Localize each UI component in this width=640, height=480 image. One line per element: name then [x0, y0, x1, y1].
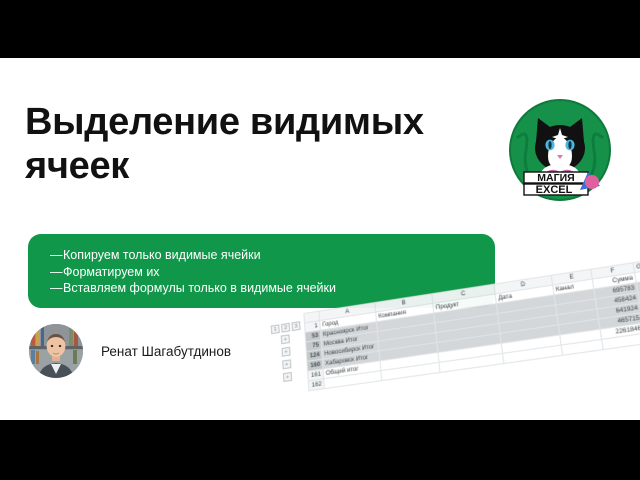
bullet-text: Форматируем их [63, 265, 160, 279]
row-number[interactable]: 162 [308, 379, 324, 391]
outline-panel[interactable]: 1 2 3 + + + + [270, 321, 307, 397]
outline-expand-button[interactable]: + [282, 359, 291, 369]
author-name: Ренат Шагабутдинов [101, 344, 231, 359]
slide-content: Выделение видимых ячеек [0, 58, 640, 420]
bullet-text: Копируем только видимые ячейки [63, 248, 261, 262]
cell-header-g[interactable] [635, 271, 640, 282]
magic-excel-logo-icon: МАГИЯ EXCEL [508, 98, 612, 202]
logo-text-line1: МАГИЯ [537, 172, 574, 184]
outline-expand-buttons[interactable]: + + + + [281, 332, 306, 382]
outline-level-1-button[interactable]: 1 [271, 324, 280, 334]
bullet-dash: — [50, 280, 63, 297]
logo-text-line2: EXCEL [536, 184, 573, 196]
letterbox-top [0, 0, 640, 58]
excel-screenshot: 1 2 3 + + + + [272, 316, 640, 420]
outline-expand-button[interactable]: + [283, 372, 292, 382]
author-block: Ренат Шагабутдинов [29, 324, 231, 378]
bullet-dash: — [50, 264, 63, 281]
letterbox-bottom [0, 420, 640, 480]
outline-expand-button[interactable]: + [281, 334, 290, 344]
page-title: Выделение видимых ячеек [25, 100, 475, 188]
outline-expand-button[interactable]: + [282, 347, 291, 357]
cell-blank[interactable] [636, 281, 640, 292]
bullet-dash: — [50, 247, 63, 264]
list-item: —Копируем только видимые ячейки [50, 247, 495, 264]
callout-bullet-list: —Копируем только видимые ячейки —Формати… [28, 234, 495, 297]
outline-level-3-button[interactable]: 3 [292, 321, 301, 331]
list-item: —Форматируем их [50, 264, 495, 281]
avatar [29, 324, 83, 378]
outline-level-2-button[interactable]: 2 [281, 323, 290, 333]
bullet-text: Вставляем формулы только в видимые ячейк… [63, 281, 336, 295]
slide-stage: Выделение видимых ячеек [0, 0, 640, 480]
